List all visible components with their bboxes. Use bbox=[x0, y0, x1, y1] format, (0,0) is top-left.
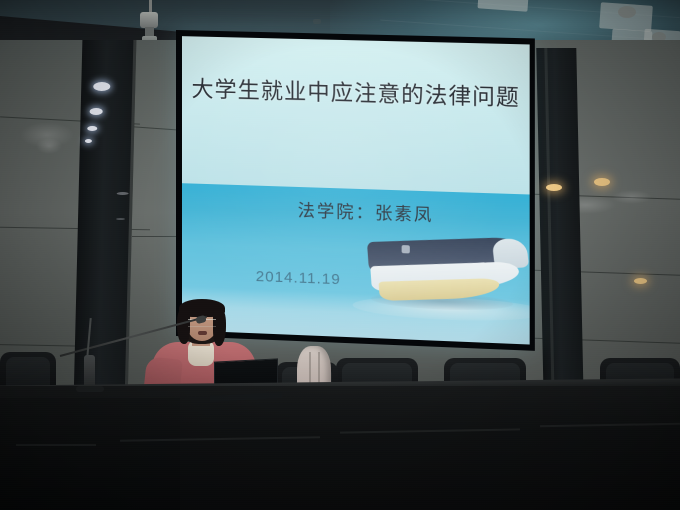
cloth-fold bbox=[309, 352, 311, 386]
speaker-hair-right bbox=[213, 308, 226, 346]
pillar-light bbox=[93, 82, 110, 91]
wall-lamp bbox=[546, 184, 562, 191]
wall-scuff bbox=[36, 138, 62, 154]
lecture-hall-photo: 大学生就业中应注意的法律问题 法学院：张素凤 2014.11.19 bbox=[0, 0, 680, 510]
desk-left-block bbox=[0, 398, 180, 510]
pendant-light-body bbox=[140, 12, 158, 28]
presentation-slide: 大学生就业中应注意的法律问题 法学院：张素凤 2014.11.19 bbox=[182, 36, 530, 344]
cloth-fold bbox=[318, 352, 320, 386]
boat-graphic bbox=[368, 231, 523, 311]
ceiling-sensor bbox=[313, 19, 321, 24]
wall-lamp bbox=[634, 278, 647, 284]
pillar-edge bbox=[544, 48, 554, 403]
wall-scuff bbox=[612, 190, 652, 204]
ceiling-light-dot bbox=[618, 6, 636, 18]
slide-sky bbox=[182, 36, 530, 194]
wall-lamp bbox=[594, 178, 610, 186]
wall-seam bbox=[132, 236, 182, 237]
speaker-mouth bbox=[198, 331, 207, 335]
pillar-light bbox=[90, 108, 103, 115]
pillar-reflection bbox=[116, 218, 125, 220]
desk-panel-line bbox=[16, 444, 96, 446]
pillar-reflection bbox=[117, 192, 129, 195]
right-pillar bbox=[536, 48, 583, 403]
left-pillar bbox=[74, 40, 137, 400]
boat-fitting bbox=[402, 245, 410, 253]
pillar-light bbox=[85, 139, 92, 143]
mic-stand-base bbox=[76, 386, 104, 392]
pillar-light bbox=[87, 126, 97, 131]
